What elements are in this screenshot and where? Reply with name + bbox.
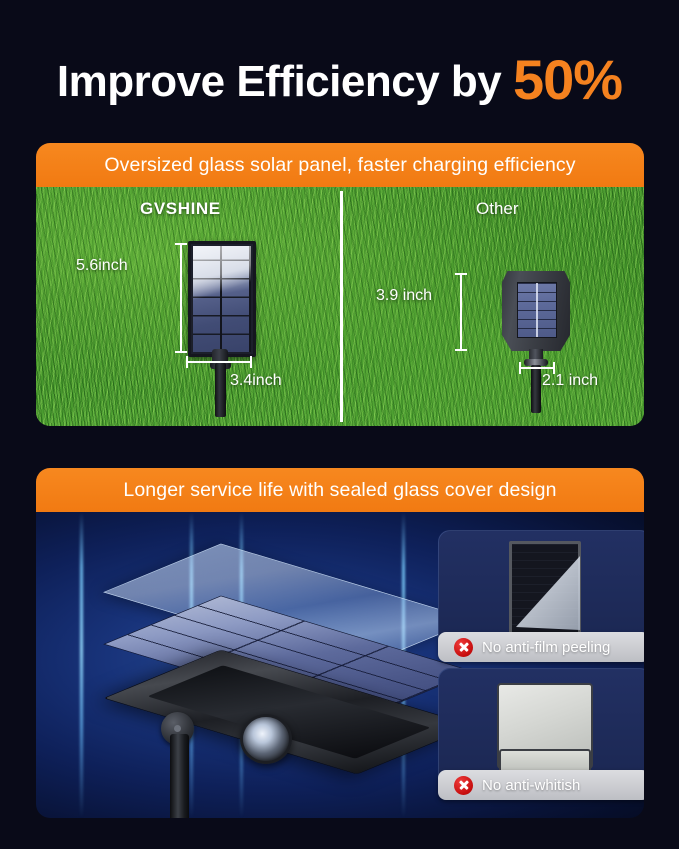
other-height-label: 3.9 inch [376, 287, 432, 305]
brand-label-other: Other [476, 199, 519, 219]
x-circle-icon [454, 638, 473, 657]
caption-no-anti-film-peeling: No anti-film peeling [438, 632, 644, 662]
spotlight-lens [240, 714, 292, 764]
caption-no-anti-whitish: No anti-whitish [438, 770, 644, 800]
sealed-glass-card: Longer service life with sealed glass co… [36, 468, 644, 818]
gvshine-panel-glare [193, 246, 251, 352]
gvshine-solar-lamp [188, 241, 256, 357]
gvshine-solar-panel [188, 241, 256, 357]
grass-photo: GVSHINE Other 5.6inch 3.4inch 3.9 inc [36, 187, 644, 426]
gvshine-height-label: 5.6inch [76, 257, 128, 275]
other-lamp-housing [502, 271, 570, 351]
page-title: Improve Efficiency by 50% [0, 52, 679, 108]
other-width-label: 2.1 inch [542, 372, 598, 390]
whitish-panel-photo [497, 683, 593, 769]
page-title-percent: 50% [513, 48, 622, 111]
x-circle-icon [454, 776, 473, 795]
other-height-dimension-bar [460, 273, 462, 351]
comparison-card: Oversized glass solar panel, faster char… [36, 143, 644, 426]
other-width-dimension-bar [519, 367, 555, 369]
exploded-lamp-diagram [66, 536, 386, 806]
comparison-banner: Oversized glass solar panel, faster char… [36, 143, 644, 187]
comparison-divider [340, 191, 343, 422]
caption-text: No anti-film peeling [482, 639, 610, 656]
mounting-pole [170, 734, 189, 818]
page-title-text: Improve Efficiency by [57, 57, 513, 106]
gvshine-width-label: 3.4inch [230, 372, 282, 390]
other-ground-stake [531, 365, 541, 413]
brand-label-gvshine: GVSHINE [140, 199, 221, 219]
sealed-glass-illustration: No anti-film peeling No anti-whitish [36, 512, 644, 818]
gvshine-width-dimension-bar [186, 361, 252, 363]
gvshine-height-dimension-bar [180, 243, 182, 353]
caption-text: No anti-whitish [482, 777, 580, 794]
gvshine-ground-stake [215, 363, 226, 417]
other-solar-panel [517, 282, 557, 338]
peeling-film-photo [509, 541, 581, 635]
sealed-glass-banner: Longer service life with sealed glass co… [36, 468, 644, 512]
other-solar-lamp [502, 271, 570, 351]
